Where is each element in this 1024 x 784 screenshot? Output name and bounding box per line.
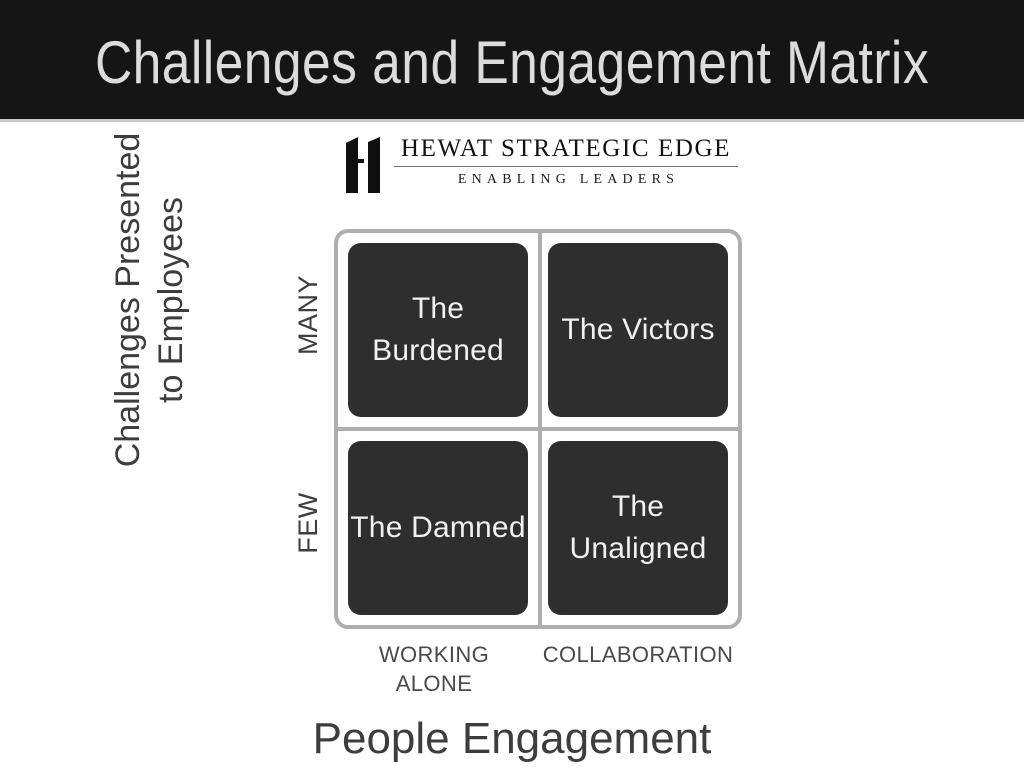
logo-divider — [394, 166, 738, 167]
x-axis-tick-working-alone-line1: WORKING — [379, 642, 489, 667]
y-axis-title-text: Challenges Presented to Employees — [107, 133, 193, 468]
hewat-h-monogram-icon — [344, 137, 384, 193]
matrix-cell-the-victors[interactable]: The Victors — [548, 243, 728, 417]
y-axis-title-line2: to Employees — [152, 197, 190, 403]
x-axis-tick-working-alone: WORKING ALONE — [329, 640, 539, 698]
matrix-cell-the-unaligned[interactable]: The Unaligned — [548, 441, 728, 615]
matrix-frame: The Burdened The Victors The Damned The … — [334, 229, 742, 629]
logo-tagline: ENABLING LEADERS — [392, 171, 740, 189]
logo-text-block: HEWAT STRATEGIC EDGE ENABLING LEADERS — [392, 134, 740, 189]
y-axis-tick-few: FEW — [291, 458, 325, 588]
y-axis-title-line1: Challenges Presented — [109, 133, 147, 468]
y-axis-tick-many: MANY — [291, 250, 325, 380]
logo-company-name: HEWAT STRATEGIC EDGE — [392, 134, 740, 164]
x-axis-tick-collaboration: COLLABORATION — [533, 640, 743, 669]
matrix-cell-the-burdened[interactable]: The Burdened — [348, 243, 528, 417]
page-title: Challenges and Engagement Matrix — [72, 29, 953, 97]
x-axis-title: People Engagement — [0, 712, 1024, 766]
matrix-horizontal-divider — [338, 427, 738, 431]
company-logo: HEWAT STRATEGIC EDGE ENABLING LEADERS — [340, 134, 740, 196]
matrix-cell-the-damned[interactable]: The Damned — [348, 441, 528, 615]
x-axis-tick-working-alone-line2: ALONE — [396, 671, 473, 696]
y-axis-title: Challenges Presented to Employees — [95, 105, 205, 495]
title-banner: Challenges and Engagement Matrix — [0, 0, 1024, 119]
